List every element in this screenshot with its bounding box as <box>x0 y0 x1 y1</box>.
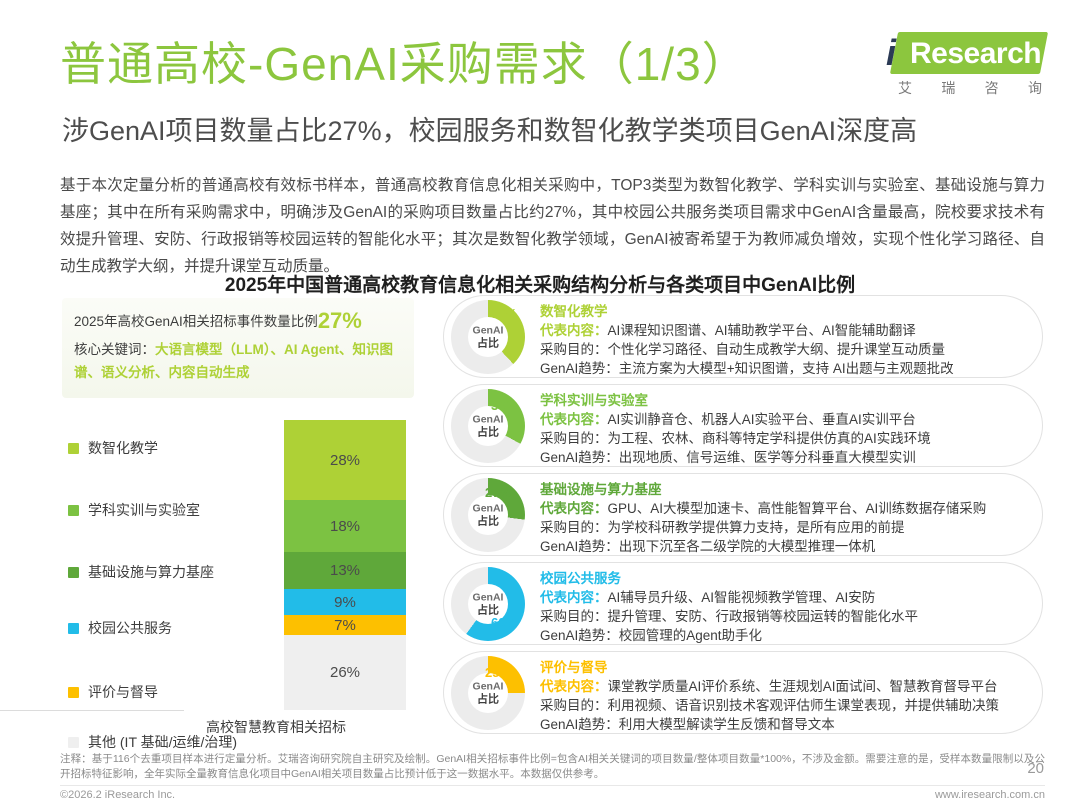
donut-percentage-label: 27% <box>485 485 511 500</box>
card-detail-text: 利用视频、语音识别技术客观评估师生课堂表现，并提供辅助决策 <box>608 698 1000 713</box>
chart-title: 2025年中国普通高校教育信息化相关采购结构分析与各类项目中GenAI比例 <box>0 270 1080 297</box>
logo-cn-char-3: 咨 <box>985 78 1000 98</box>
donut-percentage-label: 38% <box>491 306 517 321</box>
bar-segment: 28% <box>284 420 406 500</box>
donut-center-label: GenAI占比 <box>458 503 518 528</box>
card-title: 学科实训与实验室 <box>540 392 1028 410</box>
legend-item: 校园公共服务 <box>68 618 172 638</box>
card-detail-label: 代表内容： <box>540 590 608 605</box>
logo-letter-i: i <box>886 33 896 73</box>
card-detail-label: GenAI趋势： <box>540 361 619 376</box>
card-detail-label: GenAI趋势： <box>540 717 619 732</box>
bar-segment-label: 26% <box>330 664 360 681</box>
category-card[interactable]: GenAI占比38%数智化教学代表内容：AI课程知识图谱、AI辅助教学平台、AI… <box>443 295 1043 378</box>
card-detail-label: 采购目的： <box>540 698 608 713</box>
keyword-ratio-value: 27% <box>318 308 362 333</box>
card-detail-row: 代表内容：AI辅导员升级、AI智能视频教学管理、AI安防 <box>540 588 1028 607</box>
genai-share-donut-chart: GenAI占比25% <box>451 656 525 730</box>
keyword-ratio-line: 2025年高校GenAI相关招标事件数量比例27% <box>74 310 402 333</box>
donut-center-line2: 占比 <box>458 694 518 706</box>
chart-baseline <box>0 710 184 711</box>
card-detail-label: 代表内容： <box>540 501 608 516</box>
core-keywords-label: 核心关键词： <box>74 342 155 357</box>
card-detail-label: 代表内容： <box>540 323 608 338</box>
chart-x-tick-label: 高校智慧教育相关招标 <box>206 717 406 737</box>
bar-segment: 26% <box>284 635 406 710</box>
donut-center-line1: GenAI <box>458 325 518 337</box>
card-detail-label: 代表内容： <box>540 412 608 427</box>
slide-root: 普通高校-GenAI采购需求（1/3） 涉GenAI项目数量占比27%，校园服务… <box>0 0 1080 810</box>
iresearch-logo: i Research 艾 瑞 咨 询 <box>856 30 1046 102</box>
card-detail-text: 校园管理的Agent助手化 <box>619 628 762 643</box>
card-detail-label: 采购目的： <box>540 520 608 535</box>
card-detail-row: 代表内容：AI实训静音仓、机器人AI实验平台、垂直AI实训平台 <box>540 410 1028 429</box>
logo-chinese-name: 艾 瑞 咨 询 <box>898 78 1043 98</box>
card-detail-text: 个性化学习路径、自动生成教学大纲、提升课堂互动质量 <box>608 342 946 357</box>
card-detail-text: 出现地质、信号运维、医学等分科垂直大模型实训 <box>619 450 916 465</box>
legend-item: 基础设施与算力基座 <box>68 562 214 582</box>
page-subtitle: 涉GenAI项目数量占比27%，校园服务和数智化教学类项目GenAI深度高 <box>62 113 917 149</box>
card-detail-text: 为学校科研教学提供算力支持，是所有应用的前提 <box>608 520 905 535</box>
legend-swatch-icon <box>68 567 79 578</box>
card-body: 学科实训与实验室代表内容：AI实训静音仓、机器人AI实验平台、垂直AI实训平台采… <box>540 392 1028 467</box>
core-keywords-line: 核心关键词：大语言模型（LLM）、AI Agent、知识图谱、语义分析、内容自动… <box>74 338 402 384</box>
card-detail-row: GenAI趋势：主流方案为大模型+知识图谱，支持 AI出题与主观题批改 <box>540 359 1028 378</box>
card-title: 校园公共服务 <box>540 570 1028 588</box>
card-detail-text: AI实训静音仓、机器人AI实验平台、垂直AI实训平台 <box>608 412 916 427</box>
card-body: 数智化教学代表内容：AI课程知识图谱、AI辅助教学平台、AI智能辅助翻译采购目的… <box>540 303 1028 378</box>
page-title: 普通高校-GenAI采购需求（1/3） <box>60 36 749 92</box>
card-detail-text: 出现下沉至各二级学院的大模型推理一体机 <box>619 539 876 554</box>
legend-swatch-icon <box>68 505 79 516</box>
card-detail-text: 主流方案为大模型+知识图谱，支持 AI出题与主观题批改 <box>619 361 954 376</box>
card-detail-text: AI课程知识图谱、AI辅助教学平台、AI智能辅助翻译 <box>608 323 916 338</box>
card-detail-text: 课堂教学质量AI评价系统、生涯规划AI面试间、智慧教育督导平台 <box>608 679 998 694</box>
card-detail-text: 为工程、农林、商科等特定学科提供仿真的AI实践环境 <box>608 431 931 446</box>
stacked-bar: 28%18%13%9%7%26% <box>284 420 406 710</box>
legend-label: 基础设施与算力基座 <box>88 562 214 582</box>
category-card[interactable]: GenAI占比27%基础设施与算力基座代表内容：GPU、AI大模型加速卡、高性能… <box>443 473 1043 556</box>
donut-center-label: GenAI占比 <box>458 681 518 706</box>
card-detail-row: 代表内容：AI课程知识图谱、AI辅助教学平台、AI智能辅助翻译 <box>540 321 1028 340</box>
card-detail-row: 采购目的：为学校科研教学提供算力支持，是所有应用的前提 <box>540 518 1028 537</box>
card-detail-label: GenAI趋势： <box>540 539 619 554</box>
donut-center-line2: 占比 <box>458 516 518 528</box>
card-detail-row: GenAI趋势：出现下沉至各二级学院的大模型推理一体机 <box>540 537 1028 556</box>
bar-segment: 9% <box>284 589 406 615</box>
bar-segment: 18% <box>284 500 406 552</box>
bar-segment: 7% <box>284 615 406 635</box>
bar-segment-label: 13% <box>330 562 360 579</box>
stacked-bar-chart: 数智化教学学科实训与实验室基础设施与算力基座校园公共服务评价与督导其他 (IT … <box>62 420 422 740</box>
card-detail-label: GenAI趋势： <box>540 628 619 643</box>
footer-website: www.iresearch.com.cn <box>935 789 1045 801</box>
card-title: 数智化教学 <box>540 303 1028 321</box>
card-title: 基础设施与算力基座 <box>540 481 1028 499</box>
logo-cn-char-1: 艾 <box>898 78 913 98</box>
card-detail-row: 代表内容：课堂教学质量AI评价系统、生涯规划AI面试间、智慧教育督导平台 <box>540 677 1028 696</box>
footnote: 注释：基于116个去重项目样本进行定量分析。艾瑞咨询研究院自主研究及绘制。Gen… <box>60 752 1045 782</box>
logo-cn-char-2: 瑞 <box>941 78 956 98</box>
card-detail-label: 采购目的： <box>540 431 608 446</box>
logo-cn-char-4: 询 <box>1028 78 1043 98</box>
donut-center-line1: GenAI <box>458 592 518 604</box>
lead-paragraph: 基于本次定量分析的普通高校有效标书样本，普通高校教育信息化相关采购中，TOP3类… <box>60 172 1045 280</box>
footer-divider <box>60 785 1045 786</box>
card-detail-row: 代表内容：GPU、AI大模型加速卡、高性能智算平台、AI训练数据存储采购 <box>540 499 1028 518</box>
donut-center-line1: GenAI <box>458 681 518 693</box>
legend-swatch-icon <box>68 623 79 634</box>
legend-label: 学科实训与实验室 <box>88 500 200 520</box>
legend-swatch-icon <box>68 443 79 454</box>
donut-center-line2: 占比 <box>458 338 518 350</box>
card-detail-row: 采购目的：个性化学习路径、自动生成教学大纲、提升课堂互动质量 <box>540 340 1028 359</box>
left-column: 2025年高校GenAI相关招标事件数量比例27% 核心关键词：大语言模型（LL… <box>62 298 422 738</box>
card-detail-row: GenAI趋势：利用大模型解读学生反馈和督导文本 <box>540 715 1028 734</box>
donut-percentage-label: 33% <box>491 398 517 413</box>
legend-swatch-icon <box>68 737 79 748</box>
category-card[interactable]: GenAI占比33%学科实训与实验室代表内容：AI实训静音仓、机器人AI实验平台… <box>443 384 1043 467</box>
category-card[interactable]: GenAI占比60%校园公共服务代表内容：AI辅导员升级、AI智能视频教学管理、… <box>443 562 1043 645</box>
donut-center-line1: GenAI <box>458 503 518 515</box>
card-body: 评价与督导代表内容：课堂教学质量AI评价系统、生涯规划AI面试间、智慧教育督导平… <box>540 659 1028 734</box>
card-detail-text: 利用大模型解读学生反馈和督导文本 <box>619 717 835 732</box>
bar-segment-label: 7% <box>334 617 356 634</box>
bar-segment-label: 28% <box>330 452 360 469</box>
bar-segment-label: 9% <box>334 594 356 611</box>
donut-percentage-label: 60% <box>491 615 517 630</box>
card-detail-label: GenAI趋势： <box>540 450 619 465</box>
legend-item: 评价与督导 <box>68 682 158 702</box>
logo-mark: i Research <box>856 30 1046 76</box>
legend-label: 数智化教学 <box>88 438 158 458</box>
card-detail-text: GPU、AI大模型加速卡、高性能智算平台、AI训练数据存储采购 <box>608 501 987 516</box>
donut-center-line2: 占比 <box>458 427 518 439</box>
donut-center-label: GenAI占比 <box>458 325 518 350</box>
bar-segment: 13% <box>284 552 406 589</box>
category-card[interactable]: GenAI占比25%评价与督导代表内容：课堂教学质量AI评价系统、生涯规划AI面… <box>443 651 1043 734</box>
keyword-summary-box: 2025年高校GenAI相关招标事件数量比例27% 核心关键词：大语言模型（LL… <box>62 298 414 398</box>
legend-swatch-icon <box>68 687 79 698</box>
donut-center-label: GenAI占比 <box>458 414 518 439</box>
genai-share-donut-chart: GenAI占比33% <box>451 389 525 463</box>
legend-item: 学科实训与实验室 <box>68 500 200 520</box>
donut-percentage-label: 25% <box>485 665 511 680</box>
legend-label: 校园公共服务 <box>88 618 172 638</box>
legend-item: 数智化教学 <box>68 438 158 458</box>
card-detail-label: 采购目的： <box>540 609 608 624</box>
card-detail-row: 采购目的：提升管理、安防、行政报销等校园运转的智能化水平 <box>540 607 1028 626</box>
category-card-list: GenAI占比38%数智化教学代表内容：AI课程知识图谱、AI辅助教学平台、AI… <box>443 295 1043 740</box>
card-detail-label: 采购目的： <box>540 342 608 357</box>
card-detail-row: 采购目的：利用视频、语音识别技术客观评估师生课堂表现，并提供辅助决策 <box>540 696 1028 715</box>
genai-share-donut-chart: GenAI占比27% <box>451 478 525 552</box>
card-detail-text: AI辅导员升级、AI智能视频教学管理、AI安防 <box>608 590 876 605</box>
card-body: 基础设施与算力基座代表内容：GPU、AI大模型加速卡、高性能智算平台、AI训练数… <box>540 481 1028 556</box>
genai-share-donut-chart: GenAI占比60% <box>451 567 525 641</box>
card-detail-row: GenAI趋势：校园管理的Agent助手化 <box>540 626 1028 645</box>
card-title: 评价与督导 <box>540 659 1028 677</box>
logo-wordmark: Research <box>910 34 1041 74</box>
card-detail-label: 代表内容： <box>540 679 608 694</box>
legend-label: 评价与督导 <box>88 682 158 702</box>
page-number: 20 <box>1027 760 1044 777</box>
donut-center-label: GenAI占比 <box>458 592 518 617</box>
card-detail-row: 采购目的：为工程、农林、商科等特定学科提供仿真的AI实践环境 <box>540 429 1028 448</box>
donut-center-line1: GenAI <box>458 414 518 426</box>
card-detail-row: GenAI趋势：出现地质、信号运维、医学等分科垂直大模型实训 <box>540 448 1028 467</box>
card-detail-text: 提升管理、安防、行政报销等校园运转的智能化水平 <box>608 609 919 624</box>
bar-segment-label: 18% <box>330 518 360 535</box>
footer-copyright: ©2026.2 iResearch Inc. <box>60 789 175 801</box>
genai-share-donut-chart: GenAI占比38% <box>451 300 525 374</box>
card-body: 校园公共服务代表内容：AI辅导员升级、AI智能视频教学管理、AI安防采购目的：提… <box>540 570 1028 645</box>
keyword-ratio-label: 2025年高校GenAI相关招标事件数量比例 <box>74 314 318 329</box>
